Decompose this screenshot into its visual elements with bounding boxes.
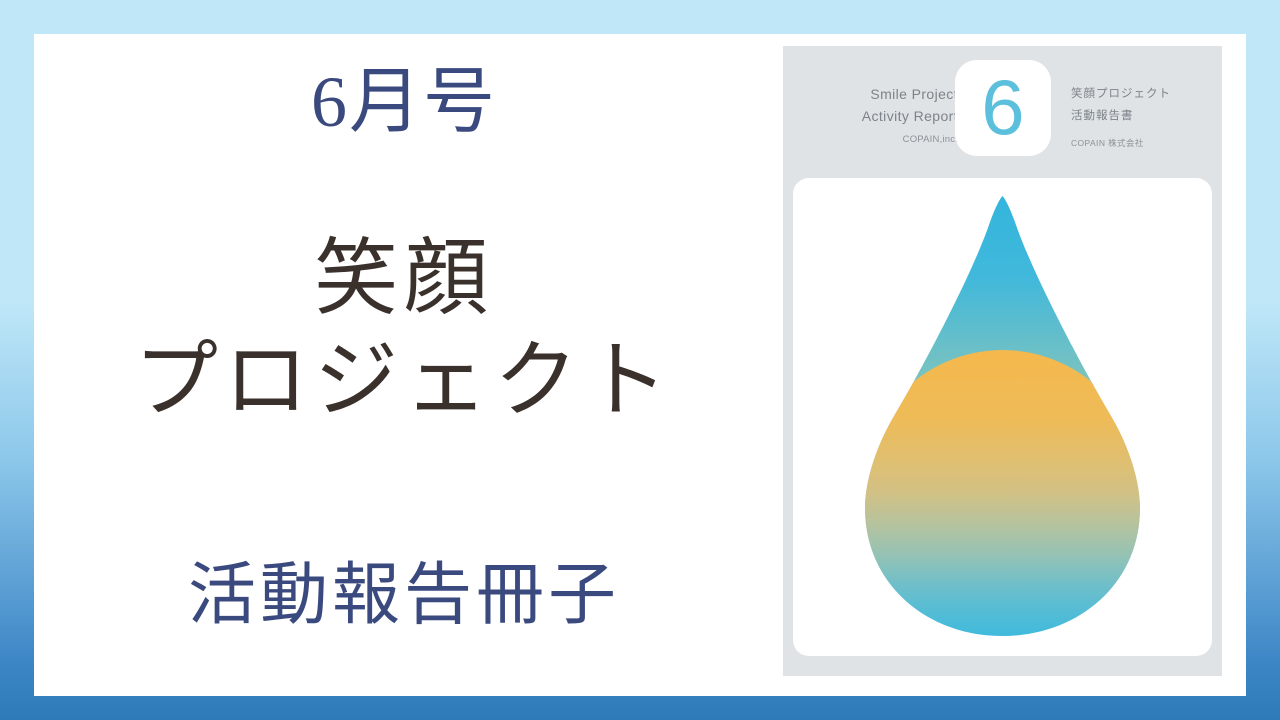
project-title-line-1: 笑顔 — [34, 229, 774, 331]
document-header-band: Smile Project Activity Report COPAIN,inc… — [783, 46, 1222, 178]
month-badge: 6 — [955, 60, 1051, 156]
header-japanese-title-line-1: 笑顔プロジェクト — [1071, 84, 1211, 106]
header-left-text-block: Smile Project Activity Report COPAIN,inc… — [828, 84, 958, 145]
slide-canvas: 6月号 笑顔 プロジェクト 活動報告冊子 Smile Project Activ… — [0, 0, 1280, 720]
project-title: 笑顔 プロジェクト — [34, 229, 774, 434]
month-number: 6 — [955, 60, 1051, 156]
left-text-column: 6月号 笑顔 プロジェクト 活動報告冊子 — [34, 34, 774, 696]
water-drop-illustration — [793, 178, 1212, 656]
header-right-text-block: 笑顔プロジェクト 活動報告書 COPAIN 株式会社 — [1071, 84, 1211, 149]
document-body-panel — [793, 178, 1212, 656]
booklet-title: 活動報告冊子 — [34, 558, 774, 633]
water-drop-icon — [793, 178, 1212, 656]
issue-label: 6月号 — [34, 66, 774, 138]
header-english-title-line-1: Smile Project — [828, 84, 958, 106]
header-english-title-line-2: Activity Report — [828, 106, 958, 128]
header-japanese-company: COPAIN 株式会社 — [1071, 137, 1211, 149]
project-title-line-2: プロジェクト — [34, 331, 774, 433]
header-english-company: COPAIN,inc. — [828, 134, 958, 145]
document-preview-card[interactable]: Smile Project Activity Report COPAIN,inc… — [783, 46, 1222, 676]
header-japanese-title-line-2: 活動報告書 — [1071, 106, 1211, 128]
